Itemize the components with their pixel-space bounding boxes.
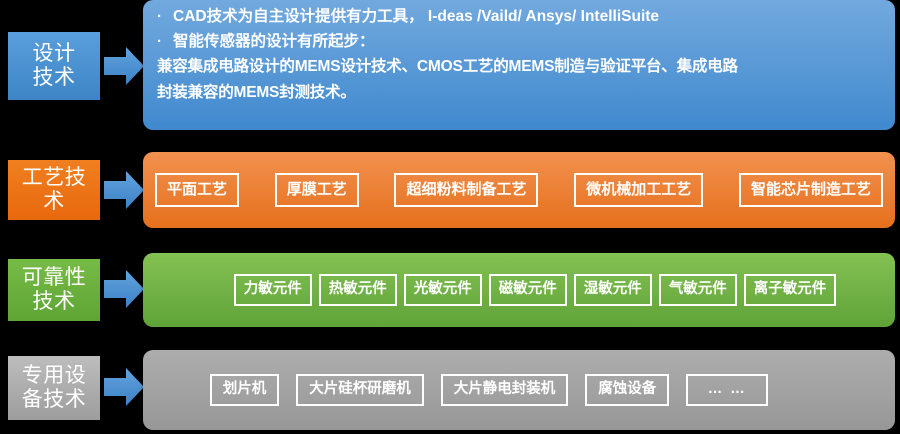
- bullet-text: CAD技术为自主设计提供有力工具， I-deas /Vaild/ Ansys/ …: [173, 8, 881, 26]
- chip-item[interactable]: 厚膜工艺: [275, 173, 359, 207]
- content-panel-process: 平面工艺 厚膜工艺 超细粉料制备工艺 微机械加工工艺 智能芯片制造工艺: [143, 152, 895, 228]
- bullet-marker-icon: ·: [157, 8, 173, 25]
- row-label-design-line2: 技术: [33, 66, 76, 90]
- content-panel-reliability: 力敏元件 热敏元件 光敏元件 磁敏元件 湿敏元件 气敏元件 离子敏元件: [143, 253, 895, 327]
- row-label-reliability[interactable]: 可靠性 技术: [8, 259, 100, 321]
- row-label-process-line2: 术: [22, 190, 87, 214]
- chip-item[interactable]: 超细粉料制备工艺: [394, 173, 538, 207]
- chip-item[interactable]: 腐蚀设备: [585, 374, 669, 406]
- bullet-item: · 智能传感器的设计有所起步：: [157, 33, 881, 51]
- chip-list-equipment: 划片机 大片硅杯研磨机 大片静电封装机 腐蚀设备 … …: [143, 350, 895, 430]
- chip-item-ellipsis[interactable]: … …: [686, 374, 768, 406]
- chip-item[interactable]: 划片机: [210, 374, 280, 406]
- row-label-reliability-line1: 可靠性: [22, 266, 87, 290]
- chip-item[interactable]: 智能芯片制造工艺: [739, 173, 883, 207]
- chip-list-process: 平面工艺 厚膜工艺 超细粉料制备工艺 微机械加工工艺 智能芯片制造工艺: [143, 152, 895, 228]
- content-panel-design: · CAD技术为自主设计提供有力工具， I-deas /Vaild/ Ansys…: [143, 0, 895, 130]
- chip-list-reliability: 力敏元件 热敏元件 光敏元件 磁敏元件 湿敏元件 气敏元件 离子敏元件: [143, 253, 895, 327]
- chip-item[interactable]: 光敏元件: [404, 274, 482, 306]
- diagram-row-design: 设计 技术 · CAD技术为自主设计提供有力工具， I-deas /Vaild/…: [0, 0, 900, 132]
- content-panel-equipment: 划片机 大片硅杯研磨机 大片静电封装机 腐蚀设备 … …: [143, 350, 895, 430]
- chip-item[interactable]: 离子敏元件: [744, 274, 837, 306]
- row-label-design-line1: 设计: [33, 42, 76, 66]
- diagram-row-equipment: 专用设 备技术 划片机 大片硅杯研磨机 大片静电封装机 腐蚀设备 … …: [0, 350, 900, 432]
- paragraph-line: 兼容集成电路设计的MEMS设计技术、CMOS工艺的MEMS制造与验证平台、集成电…: [157, 58, 881, 76]
- chip-item[interactable]: 微机械加工工艺: [574, 173, 703, 207]
- row-label-equipment-line1: 专用设: [22, 364, 87, 388]
- chip-item[interactable]: 湿敏元件: [574, 274, 652, 306]
- chip-item[interactable]: 大片硅杯研磨机: [296, 374, 424, 406]
- chip-item[interactable]: 大片静电封装机: [441, 374, 569, 406]
- right-arrow-icon: [104, 169, 144, 211]
- design-text-block: · CAD技术为自主设计提供有力工具， I-deas /Vaild/ Ansys…: [143, 0, 895, 108]
- bullet-item: · CAD技术为自主设计提供有力工具， I-deas /Vaild/ Ansys…: [157, 8, 881, 26]
- right-arrow-icon: [104, 268, 144, 310]
- bullet-marker-icon: ·: [157, 33, 173, 50]
- chip-item[interactable]: 平面工艺: [155, 173, 239, 207]
- row-label-equipment[interactable]: 专用设 备技术: [8, 356, 100, 420]
- diagram-row-process: 工艺技 术 平面工艺 厚膜工艺 超细粉料制备工艺 微机械加工工艺 智能芯片制造工: [0, 152, 900, 230]
- row-label-design[interactable]: 设计 技术: [8, 32, 100, 100]
- chip-item[interactable]: 热敏元件: [319, 274, 397, 306]
- bullet-text: 智能传感器的设计有所起步：: [173, 33, 881, 51]
- chip-item[interactable]: 磁敏元件: [489, 274, 567, 306]
- right-arrow-icon: [104, 45, 144, 87]
- row-label-process-line1: 工艺技: [22, 166, 87, 190]
- row-label-process[interactable]: 工艺技 术: [8, 160, 100, 220]
- paragraph-line: 封装兼容的MEMS封测技术。: [157, 84, 881, 102]
- chip-item[interactable]: 气敏元件: [659, 274, 737, 306]
- diagram-row-reliability: 可靠性 技术 力敏元件 热敏元件 光敏元件 磁敏元件 湿敏元件: [0, 253, 900, 329]
- row-label-equipment-line2: 备技术: [22, 388, 87, 412]
- row-label-reliability-line2: 技术: [22, 290, 87, 314]
- right-arrow-icon: [104, 366, 144, 408]
- technology-category-diagram: 设计 技术 · CAD技术为自主设计提供有力工具， I-deas /Vaild/…: [0, 0, 900, 434]
- chip-item[interactable]: 力敏元件: [234, 274, 312, 306]
